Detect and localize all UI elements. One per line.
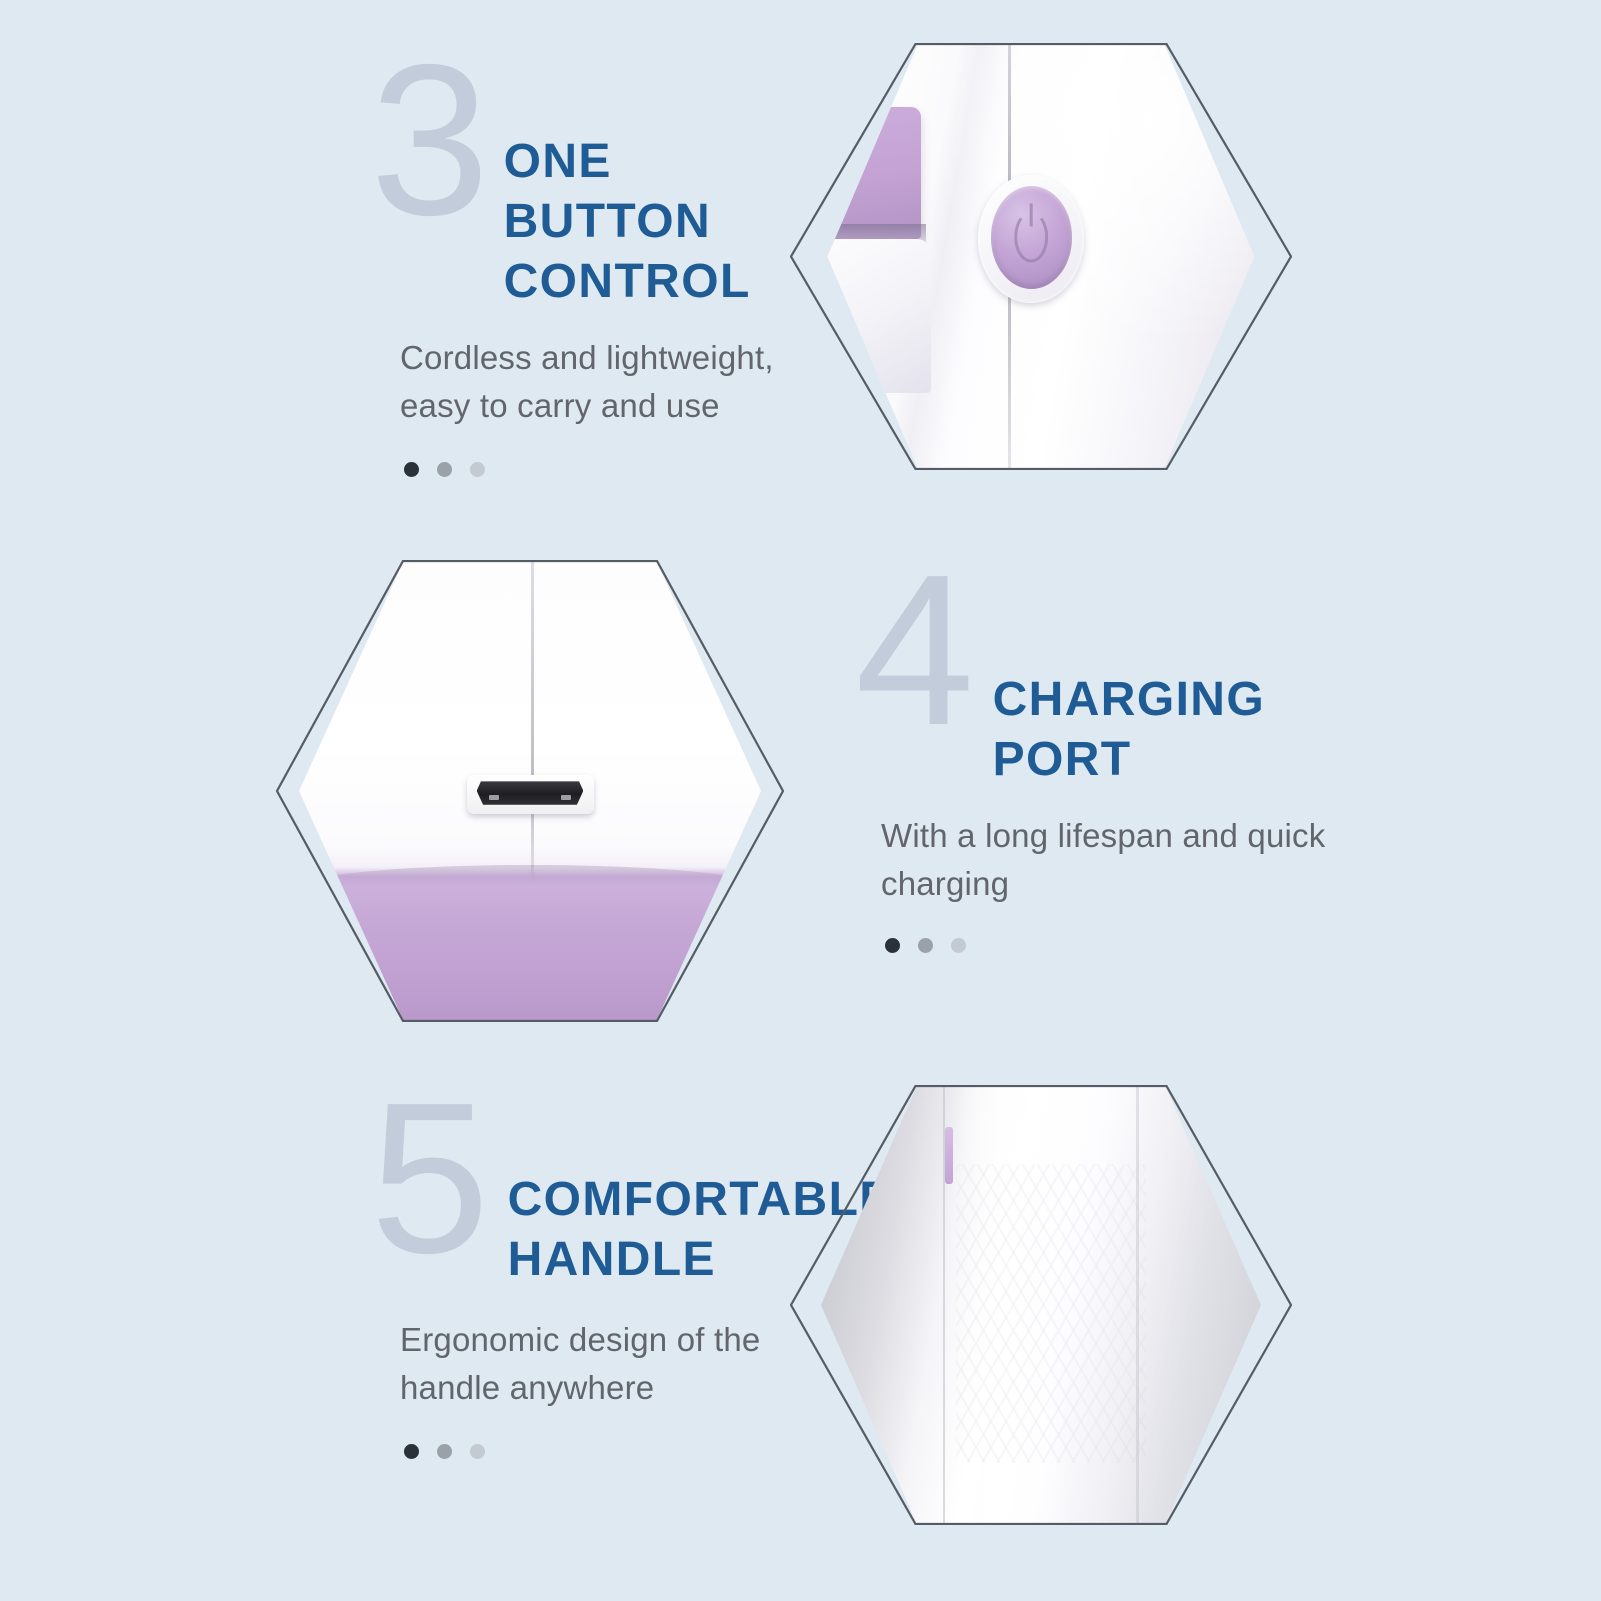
dot-indicator-light[interactable]	[470, 462, 485, 477]
usb-pin-left	[489, 795, 499, 800]
micro-usb-port	[467, 775, 594, 814]
usb-port-opening	[477, 781, 584, 804]
device-base-white	[828, 239, 931, 393]
lavender-accent-block	[828, 107, 921, 239]
feature-3-description: Cordless and lightweight, easy to carry …	[400, 334, 790, 430]
usb-pin-right	[561, 795, 571, 800]
device-seam-line	[531, 560, 534, 883]
feature-5-title: COMFORTABLE HANDLE	[508, 1170, 893, 1290]
dot-indicator-active[interactable]	[404, 1444, 419, 1459]
feature-3-number: 3	[370, 56, 486, 224]
lavender-accent-sliver	[945, 1127, 953, 1184]
feature-3-heading-row: 3 ONE BUTTON CONTROL	[370, 72, 790, 312]
handle-grip-texture	[956, 1164, 1147, 1463]
dot-indicator-light[interactable]	[470, 1444, 485, 1459]
dot-indicator-active[interactable]	[885, 938, 900, 953]
dot-indicator-medium[interactable]	[918, 938, 933, 953]
dot-indicator-active[interactable]	[404, 462, 419, 477]
handle-photo	[821, 1085, 1261, 1525]
feature-4-description: With a long lifespan and quick charging	[881, 812, 1375, 908]
feature-4-image-hexagon	[299, 537, 761, 1045]
color-transition-shadow	[299, 865, 761, 888]
feature-5-heading-row: 5 COMFORTABLE HANDLE	[370, 1110, 840, 1290]
feature-5-photo	[821, 1085, 1261, 1525]
feature-5-dot-indicator[interactable]	[404, 1444, 840, 1459]
charging-port-photo	[299, 560, 761, 1022]
feature-block-4: 4 CHARGING PORT With a long lifespan and…	[855, 582, 1375, 953]
feature-5-description: Ergonomic design of the handle anywhere	[400, 1316, 840, 1412]
dot-indicator-light[interactable]	[951, 938, 966, 953]
infographic-page: 3 ONE BUTTON CONTROL Cordless and lightw…	[0, 0, 1601, 1601]
feature-4-heading-row: 4 CHARGING PORT	[855, 582, 1375, 790]
feature-5-image-hexagon	[821, 1054, 1261, 1556]
feature-4-photo	[299, 560, 761, 1022]
dot-indicator-medium[interactable]	[437, 462, 452, 477]
feature-3-photo	[828, 43, 1255, 470]
feature-4-dot-indicator[interactable]	[885, 938, 1375, 953]
power-symbol-glyph	[1015, 212, 1049, 263]
power-button-icon	[991, 186, 1072, 288]
dot-indicator-medium[interactable]	[437, 1444, 452, 1459]
feature-block-3: 3 ONE BUTTON CONTROL Cordless and lightw…	[370, 72, 790, 477]
feature-5-number: 5	[370, 1094, 486, 1262]
feature-4-title: CHARGING PORT	[993, 670, 1375, 790]
power-button-photo	[828, 43, 1255, 470]
feature-4-number: 4	[855, 566, 971, 734]
feature-block-5: 5 COMFORTABLE HANDLE Ergonomic design of…	[370, 1110, 840, 1459]
feature-3-title: ONE BUTTON CONTROL	[504, 132, 790, 312]
feature-3-dot-indicator[interactable]	[404, 462, 790, 477]
feature-3-image-hexagon	[828, 6, 1255, 508]
